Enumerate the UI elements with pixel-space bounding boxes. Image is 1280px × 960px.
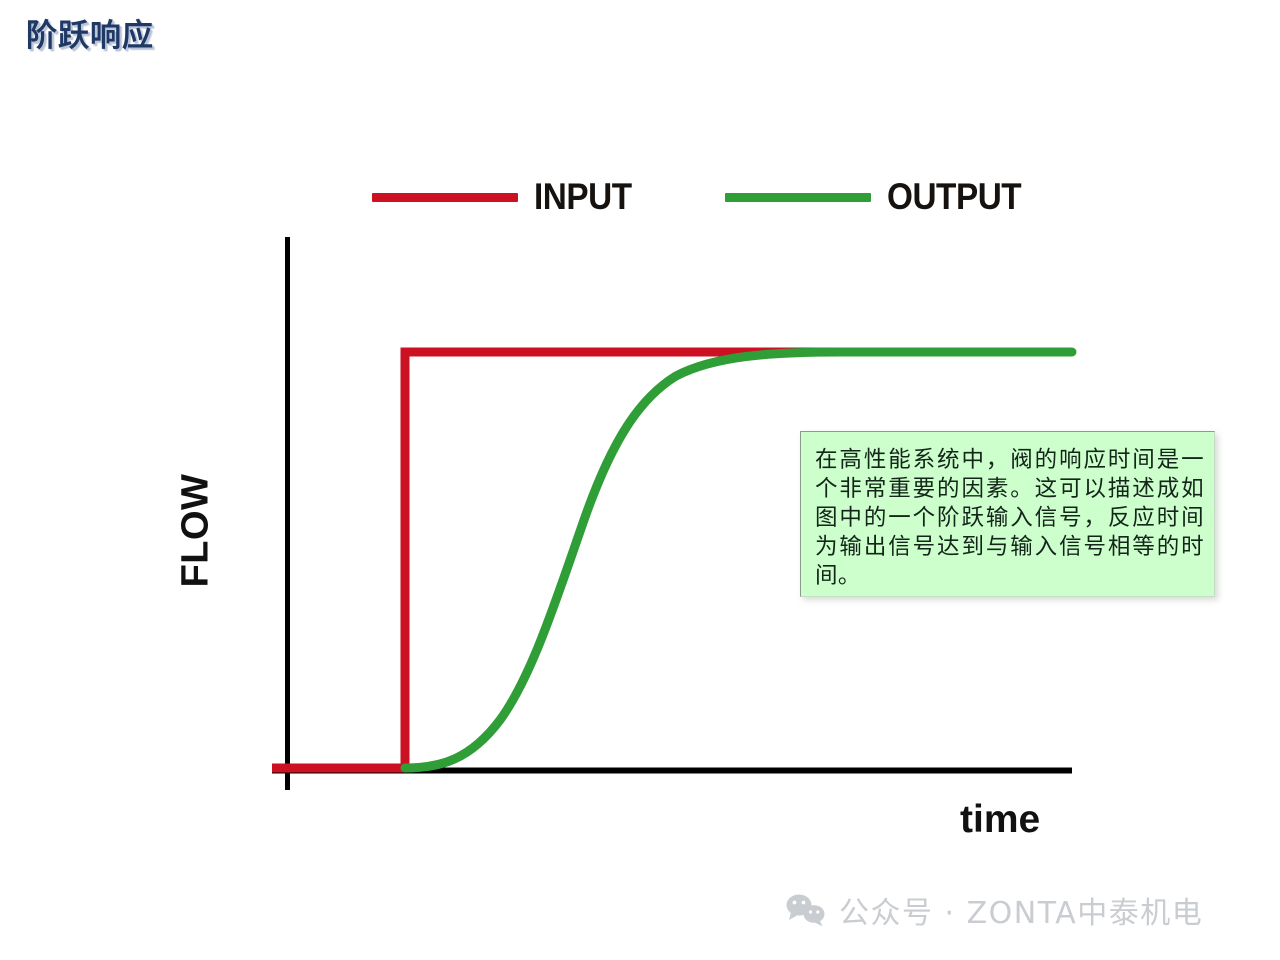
annotation-callout: 在高性能系统中，阀的响应时间是一个非常重要的因素。这可以描述成如图中的一个阶跃输… — [800, 431, 1215, 597]
legend-item-output: OUTPUT — [725, 172, 1036, 222]
chart-legend: INPUT OUTPUT — [360, 172, 1080, 222]
legend-label-input: INPUT — [534, 176, 632, 218]
watermark: 公众号 · ZONTA中泰机电 — [786, 888, 1203, 932]
legend-line-swatch-output — [725, 193, 871, 202]
wechat-icon — [786, 893, 826, 927]
legend-line-swatch-input — [372, 193, 518, 202]
wechat-icon-glyph — [786, 893, 826, 927]
legend-item-input: INPUT — [372, 172, 643, 222]
annotation-text: 在高性能系统中，阀的响应时间是一个非常重要的因素。这可以描述成如图中的一个阶跃输… — [815, 446, 1204, 591]
y-axis-title: FLOW — [176, 430, 216, 630]
y-axis-title-text: FLOW — [175, 473, 218, 587]
x-axis-title: time — [960, 798, 1040, 842]
legend-label-output: OUTPUT — [887, 176, 1021, 218]
watermark-text: 公众号 · ZONTA中泰机电 — [839, 888, 1203, 932]
